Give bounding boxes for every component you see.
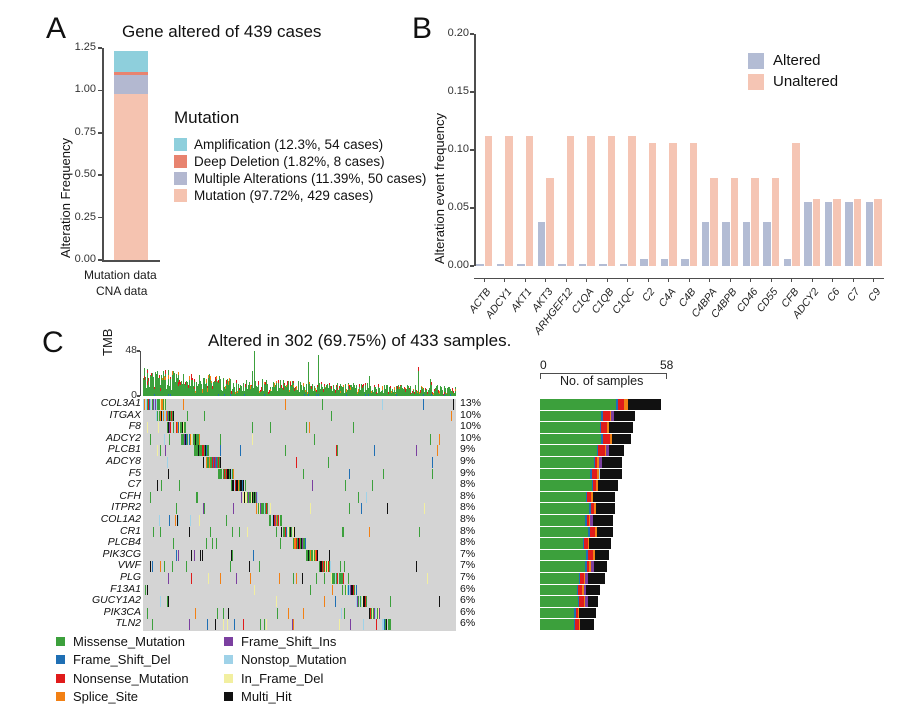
legend-swatch: [224, 655, 233, 664]
sample-count-bar: [540, 469, 622, 480]
oncoplot-cell: [147, 585, 148, 596]
oncoplot-cell: [344, 561, 345, 572]
oncoplot-cell: [366, 596, 367, 607]
oncoplot-cell: [330, 561, 331, 572]
oncoplot-cell: [178, 550, 179, 561]
oncoplot-cell: [223, 608, 224, 619]
oncoplot-cell: [341, 608, 342, 619]
oncoplot-cell: [294, 527, 295, 538]
panel-b-x-tick: [812, 278, 813, 282]
gene-label: CR1: [43, 526, 141, 537]
tmb-barplot: 480: [143, 351, 456, 396]
panel-b-bar: [710, 178, 717, 266]
oncoplot-cell: [383, 469, 384, 480]
sample-count-segment: [540, 619, 574, 630]
oncoplot-cell: [168, 573, 169, 584]
sample-count-segment: [603, 434, 610, 445]
panel-b-legend-item[interactable]: Altered: [748, 50, 838, 71]
oncoplot-cell: [437, 445, 438, 456]
oncoplot-cell: [416, 445, 417, 456]
oncoplot-row: [143, 503, 456, 514]
oncoplot-cell: [150, 434, 151, 445]
panel-b-bar: [813, 199, 820, 266]
panel-a-bar-segment: [114, 75, 148, 94]
panel-a-y-tick-label: 1.00: [66, 83, 96, 95]
panel-a-y-tick: [98, 217, 102, 219]
sample-count-segment: [540, 434, 601, 445]
oncoplot-cell: [432, 457, 433, 468]
oncoplot-cell: [159, 515, 160, 526]
panel-c-legend-item[interactable]: Missense_Mutation: [56, 632, 189, 651]
sample-count-segment: [609, 422, 633, 433]
oncoplot-cell: [202, 550, 203, 561]
oncoplot-cell: [233, 469, 234, 480]
oncoplot-cell: [372, 480, 373, 491]
legend-label: Amplification (12.3%, 54 cases): [194, 137, 383, 152]
legend-swatch: [56, 655, 65, 664]
gene-percent-label: 9%: [460, 456, 475, 467]
oncoplot-row: [143, 538, 456, 549]
oncoplot-cell: [379, 608, 380, 619]
sample-count-bar: [540, 480, 618, 491]
panel-b-x-tick: [832, 278, 833, 282]
panel-c-legend-item[interactable]: Multi_Hit: [224, 688, 347, 707]
panel-b-bar: [792, 143, 799, 266]
oncoplot-cell: [296, 573, 297, 584]
oncoplot-cell: [302, 573, 303, 584]
oncoplot-cell: [226, 515, 227, 526]
oncoplot-cell: [227, 619, 228, 630]
oncoplot-cell: [243, 619, 244, 630]
sample-count-segment: [540, 457, 594, 468]
gene-label: COL1A2: [43, 514, 141, 525]
gene-percent-label: 9%: [460, 444, 475, 455]
oncoplot-cell: [223, 619, 224, 630]
oncoplot-cell: [451, 411, 452, 422]
panel-b-x-tick: [689, 278, 690, 282]
oncoplot-cell: [249, 561, 250, 572]
panel-a-y-tick: [98, 132, 102, 134]
oncoplot-cell: [157, 480, 158, 491]
legend-label: Nonsense_Mutation: [73, 671, 189, 686]
oncoplot-cell: [172, 561, 173, 572]
panel-b-letter: B: [412, 14, 432, 44]
gene-percent-label: 8%: [460, 537, 475, 548]
oncoplot-cell: [160, 445, 161, 456]
gene-percent-label: 7%: [460, 560, 475, 571]
oncoplot-grid: [143, 399, 456, 631]
tmb-bar-cap: [293, 381, 294, 383]
tmb-bar-cap: [390, 386, 391, 388]
panel-b-bar: [866, 202, 873, 266]
legend-swatch: [224, 674, 233, 683]
oncoplot-cell: [335, 596, 336, 607]
panel-a-legend-item[interactable]: Multiple Alterations (11.39%, 50 cases): [174, 170, 426, 186]
oncoplot-cell: [147, 422, 148, 433]
gene-label: ADCY2: [43, 433, 141, 444]
oncoplot-cell: [189, 619, 190, 630]
oncoplot-cell: [296, 457, 297, 468]
oncoplot-cell: [343, 573, 344, 584]
sample-count-bar: [540, 492, 615, 503]
sample-count-segment: [540, 585, 577, 596]
tmb-bar-cap: [211, 381, 212, 383]
oncoplot-cell: [212, 538, 213, 549]
panel-b-x-tick: [791, 278, 792, 282]
gene-label: TLN2: [43, 618, 141, 629]
sample-count-segment: [596, 503, 615, 514]
oncoplot-cell: [150, 561, 151, 572]
sample-count-segment: [540, 492, 586, 503]
oncoplot-cell: [419, 527, 420, 538]
panel-b-bar: [751, 178, 758, 266]
oncoplot-cell: [340, 561, 341, 572]
oncoplot-cell: [423, 399, 424, 410]
panel-b-bar: [825, 202, 832, 266]
panel-b-bar: [874, 199, 881, 266]
legend-swatch: [224, 692, 233, 701]
sample-count-segment: [588, 573, 605, 584]
oncoplot-cell: [220, 457, 221, 468]
panel-a-y-tick: [98, 259, 102, 261]
oncoplot-cell: [169, 434, 170, 445]
sample-count-bar: [540, 550, 609, 561]
sample-count-segment: [540, 399, 616, 410]
sample-count-bar: [540, 515, 613, 526]
panel-b-bar: [743, 222, 750, 266]
gene-label: PLCB1: [43, 444, 141, 455]
panel-a-y-tick: [98, 90, 102, 92]
sample-count-bar: [540, 596, 598, 607]
sample-count-bar: [540, 445, 624, 456]
oncoplot-cell: [260, 619, 261, 630]
sample-count-segment: [540, 411, 601, 422]
oncoplot-cell: [345, 480, 346, 491]
panel-a: A Gene altered of 439 cases Alteration F…: [44, 12, 404, 312]
sample-count-segment: [597, 527, 614, 538]
legend-label: Nonstop_Mutation: [241, 652, 347, 667]
oncoplot-cell: [432, 469, 433, 480]
panel-b-x-tick: [545, 278, 546, 282]
tmb-bar-cap: [236, 380, 237, 384]
tmb-bar-cap: [258, 381, 259, 385]
oncoplot-cell: [252, 434, 253, 445]
oncoplot-cell: [206, 538, 207, 549]
panel-b-bar: [538, 222, 545, 266]
oncoplot-cell: [279, 573, 280, 584]
oncoplot-cell: [332, 585, 333, 596]
tmb-bar-cap: [413, 389, 414, 391]
gene-percent-label: 8%: [460, 502, 475, 513]
tmb-bar-cap: [394, 387, 395, 391]
panel-c-legend-item[interactable]: Frame_Shift_Ins: [224, 632, 347, 651]
panel-c-legend-item[interactable]: Frame_Shift_Del: [56, 651, 189, 670]
oncoplot-cell: [453, 399, 454, 410]
panel-b-y-tick-label: 0.20: [440, 27, 469, 39]
oncoplot-cell: [252, 422, 253, 433]
oncoplot-cell: [331, 411, 332, 422]
panel-b-x-tick: [668, 278, 669, 282]
gene-percent-label: 6%: [460, 618, 475, 629]
panel-b-x-tick: [873, 278, 874, 282]
panel-a-y-axis-label: Alteration Frequency: [58, 138, 73, 258]
oncoplot-cell: [217, 608, 218, 619]
oncoplot-cell: [270, 503, 271, 514]
oncoplot-cell: [430, 434, 431, 445]
gene-label: ITGAX: [43, 410, 141, 421]
oncoplot-cell: [349, 503, 350, 514]
oncoplot-row: [143, 411, 456, 422]
panel-b-bar: [804, 202, 811, 266]
figure-canvas: A Gene altered of 439 cases Alteration F…: [0, 0, 908, 710]
oncoplot-cell: [285, 445, 286, 456]
sample-count-bar: [540, 573, 605, 584]
oncoplot-cell: [232, 527, 233, 538]
legend-swatch: [224, 637, 233, 646]
tmb-bar-cap: [170, 377, 171, 379]
panel-c-title: Altered in 302 (69.75%) of 433 samples.: [208, 331, 511, 351]
panel-b-bar: [620, 264, 627, 266]
oncoplot-cell: [349, 469, 350, 480]
oncoplot-cell: [147, 608, 148, 619]
sample-count-bar: [540, 411, 635, 422]
panel-b-x-tick: [771, 278, 772, 282]
panel-c-legend-item[interactable]: Nonsense_Mutation: [56, 669, 189, 688]
oncoplot-cell: [348, 573, 349, 584]
oncoplot-cell: [324, 573, 325, 584]
panel-a-legend-item[interactable]: Amplification (12.3%, 54 cases): [174, 136, 426, 152]
sample-count-bar: [540, 527, 613, 538]
panel-a-legend-item[interactable]: Deep Deletion (1.82%, 8 cases): [174, 153, 426, 169]
tmb-bar-cap: [284, 383, 285, 385]
legend-label: In_Frame_Del: [241, 671, 323, 686]
panel-b-bar: [567, 136, 574, 266]
oncoplot-cell: [157, 445, 158, 456]
sample-count-bar: [540, 619, 594, 630]
oncoplot-cell: [305, 538, 306, 549]
sample-count-bar: [540, 399, 661, 410]
oncoplot-cell: [343, 527, 344, 538]
panel-a-title: Gene altered of 439 cases: [122, 22, 321, 42]
oncoplot-cell: [208, 445, 209, 456]
panel-a-y-tick-label: 0.75: [66, 126, 96, 138]
oncoplot-cell: [288, 608, 289, 619]
oncoplot-cell: [233, 503, 234, 514]
oncoplot-cell: [281, 515, 282, 526]
oncoplot-cell: [152, 561, 153, 572]
gene-label: C7: [43, 479, 141, 490]
tmb-bar-cap: [206, 379, 207, 383]
panel-b-bar: [772, 178, 779, 266]
panel-a-plot-area: 0.000.250.500.751.001.25: [102, 48, 162, 260]
sample-count-segment: [589, 538, 611, 549]
oncoplot-cell: [165, 399, 166, 410]
sample-count-segment: [540, 469, 590, 480]
gene-label: CFH: [43, 491, 141, 502]
panel-b-x-tick: [730, 278, 731, 282]
sample-count-segment: [540, 596, 578, 607]
oncoplot-cell: [267, 503, 268, 514]
tmb-bar-cap: [159, 375, 160, 378]
panel-a-legend: Mutation Amplification (12.3%, 54 cases)…: [174, 108, 426, 204]
panel-b-x-tick: [750, 278, 751, 282]
tmb-bar-cap: [165, 377, 166, 381]
panel-a-x-label-line1: Mutation data: [84, 268, 157, 282]
panel-b-x-tick: [853, 278, 854, 282]
panel-b-y-axis: [474, 34, 476, 266]
oncoplot-cell: [375, 608, 376, 619]
legend-swatch: [174, 155, 187, 168]
sample-count-bar: [540, 585, 600, 596]
sample-count-segment: [580, 619, 594, 630]
panel-a-legend-title: Mutation: [174, 108, 426, 128]
oncoplot-row: [143, 550, 456, 561]
oncoplot-cell: [337, 445, 338, 456]
oncoplot-cell: [220, 434, 221, 445]
oncoplot-cell: [361, 503, 362, 514]
oncoplot-cell: [186, 561, 187, 572]
sample-count-segment: [602, 457, 622, 468]
oncoplot-cell: [210, 527, 211, 538]
gene-percent-label: 8%: [460, 514, 475, 525]
oncoplot-cell: [427, 573, 428, 584]
sample-count-bar: [540, 503, 615, 514]
tmb-bar-cap: [418, 367, 419, 370]
sample-count-segment: [540, 550, 586, 561]
tmb-y-tick: [137, 350, 140, 351]
oncoplot-cell: [250, 573, 251, 584]
panel-b-legend-item[interactable]: Unaltered: [748, 71, 838, 92]
sample-count-bar: [540, 608, 596, 619]
sample-count-segment: [594, 561, 607, 572]
gene-label: COL3A1: [43, 398, 141, 409]
sample-count-segment: [614, 411, 635, 422]
gene-label: PLG: [43, 572, 141, 583]
oncoplot-cell: [324, 596, 325, 607]
panel-b-y-tick-label: 0.10: [440, 143, 469, 155]
oncoplot-cell: [232, 550, 233, 561]
oncoplot-cell: [185, 422, 186, 433]
oncoplot-cell: [266, 619, 267, 630]
oncoplot-cell: [170, 422, 171, 433]
oncoplot-cell: [363, 619, 364, 630]
oncoplot-cell: [247, 527, 248, 538]
oncoplot-cell: [374, 445, 375, 456]
sample-count-segment: [540, 538, 583, 549]
panel-b-y-tick: [470, 33, 474, 34]
oncoplot-cell: [277, 608, 278, 619]
oncoplot-cell: [207, 619, 208, 630]
oncoplot-cell: [424, 503, 425, 514]
tmb-bar-cap: [216, 376, 217, 379]
sample-count-segment: [540, 527, 588, 538]
oncoplot-cell: [167, 457, 168, 468]
oncoplot-cell: [199, 434, 200, 445]
panel-c-legend-item[interactable]: In_Frame_Del: [224, 669, 347, 688]
panel-a-y-tick: [98, 174, 102, 176]
oncoplot-cell: [254, 585, 255, 596]
panel-c: C Altered in 302 (69.75%) of 433 samples…: [40, 326, 908, 710]
sample-count-segment: [540, 573, 579, 584]
panel-b-bar: [690, 143, 697, 266]
panel-b-bar: [669, 143, 676, 266]
oncoplot-cell: [306, 422, 307, 433]
oncoplot-cell: [293, 619, 294, 630]
oncoplot-cell: [278, 515, 279, 526]
panel-a-y-tick-label: 0.00: [66, 253, 96, 265]
panel-b-bar: [681, 259, 688, 266]
oncoplot-cell: [152, 619, 153, 630]
panel-c-legend-item[interactable]: Nonstop_Mutation: [224, 651, 347, 670]
gene-label: ITPR2: [43, 502, 141, 513]
oncoplot-cell: [175, 515, 176, 526]
oncoplot-cell: [240, 445, 241, 456]
oncoplot-row: [143, 596, 456, 607]
gene-percent-label: 6%: [460, 595, 475, 606]
oncoplot-cell: [215, 619, 216, 630]
gene-label: PIK3CA: [43, 607, 141, 618]
gene-percent-label: 8%: [460, 526, 475, 537]
panel-c-legend-item[interactable]: Splice_Site: [56, 688, 189, 707]
oncoplot-cell: [164, 434, 165, 445]
panel-b-bar: [722, 222, 729, 266]
gene-label: PIK3CG: [43, 549, 141, 560]
oncoplot-cell: [190, 515, 191, 526]
oncoplot-cell: [329, 550, 330, 561]
panel-a-x-axis: [102, 260, 160, 262]
gene-percent-label: 9%: [460, 468, 475, 479]
gene-percent-label: 10%: [460, 410, 481, 421]
panel-b-bar: [763, 222, 770, 266]
legend-label: Deep Deletion (1.82%, 8 cases): [194, 154, 385, 169]
oncoplot-row: [143, 445, 456, 456]
gene-label: F8: [43, 421, 141, 432]
oncoplot-row: [143, 399, 456, 410]
panel-b-bar: [731, 178, 738, 266]
oncoplot-cell: [165, 445, 166, 456]
panel-b-x-tick: [607, 278, 608, 282]
oncoplot-cell: [228, 608, 229, 619]
oncoplot-cell: [253, 550, 254, 561]
oncoplot-cell: [317, 550, 318, 561]
sample-count-bar: [540, 538, 611, 549]
panel-b-bar: [517, 264, 524, 266]
panel-b-x-tick: [627, 278, 628, 282]
oncoplot-row: [143, 480, 456, 491]
oncoplot-cell: [293, 573, 294, 584]
oncoplot-cell: [416, 561, 417, 572]
tmb-bar-cap: [278, 380, 279, 383]
panel-b-y-tick: [470, 207, 474, 208]
tmb-axis-label: TMB: [100, 329, 115, 356]
oncoplot-cell: [189, 527, 190, 538]
oncoplot-cell: [270, 422, 271, 433]
panel-b: B Alteration event frequency 0.000.050.1…: [412, 12, 902, 324]
sample-count-segment: [598, 480, 618, 491]
panel-a-legend-item[interactable]: Mutation (97.72%, 429 cases): [174, 187, 426, 203]
gene-label: ADCY8: [43, 456, 141, 467]
panel-b-bar: [526, 136, 533, 266]
oncoplot-cell: [276, 596, 277, 607]
legend-label: Multi_Hit: [241, 689, 292, 704]
panel-b-x-axis: [474, 278, 884, 279]
sample-count-bar: [540, 457, 622, 468]
oncoplot-cell: [350, 619, 351, 630]
oncoplot-cell: [344, 608, 345, 619]
oncoplot-cell: [358, 492, 359, 503]
panel-b-bar: [833, 199, 840, 266]
sample-count-segment: [609, 445, 624, 456]
